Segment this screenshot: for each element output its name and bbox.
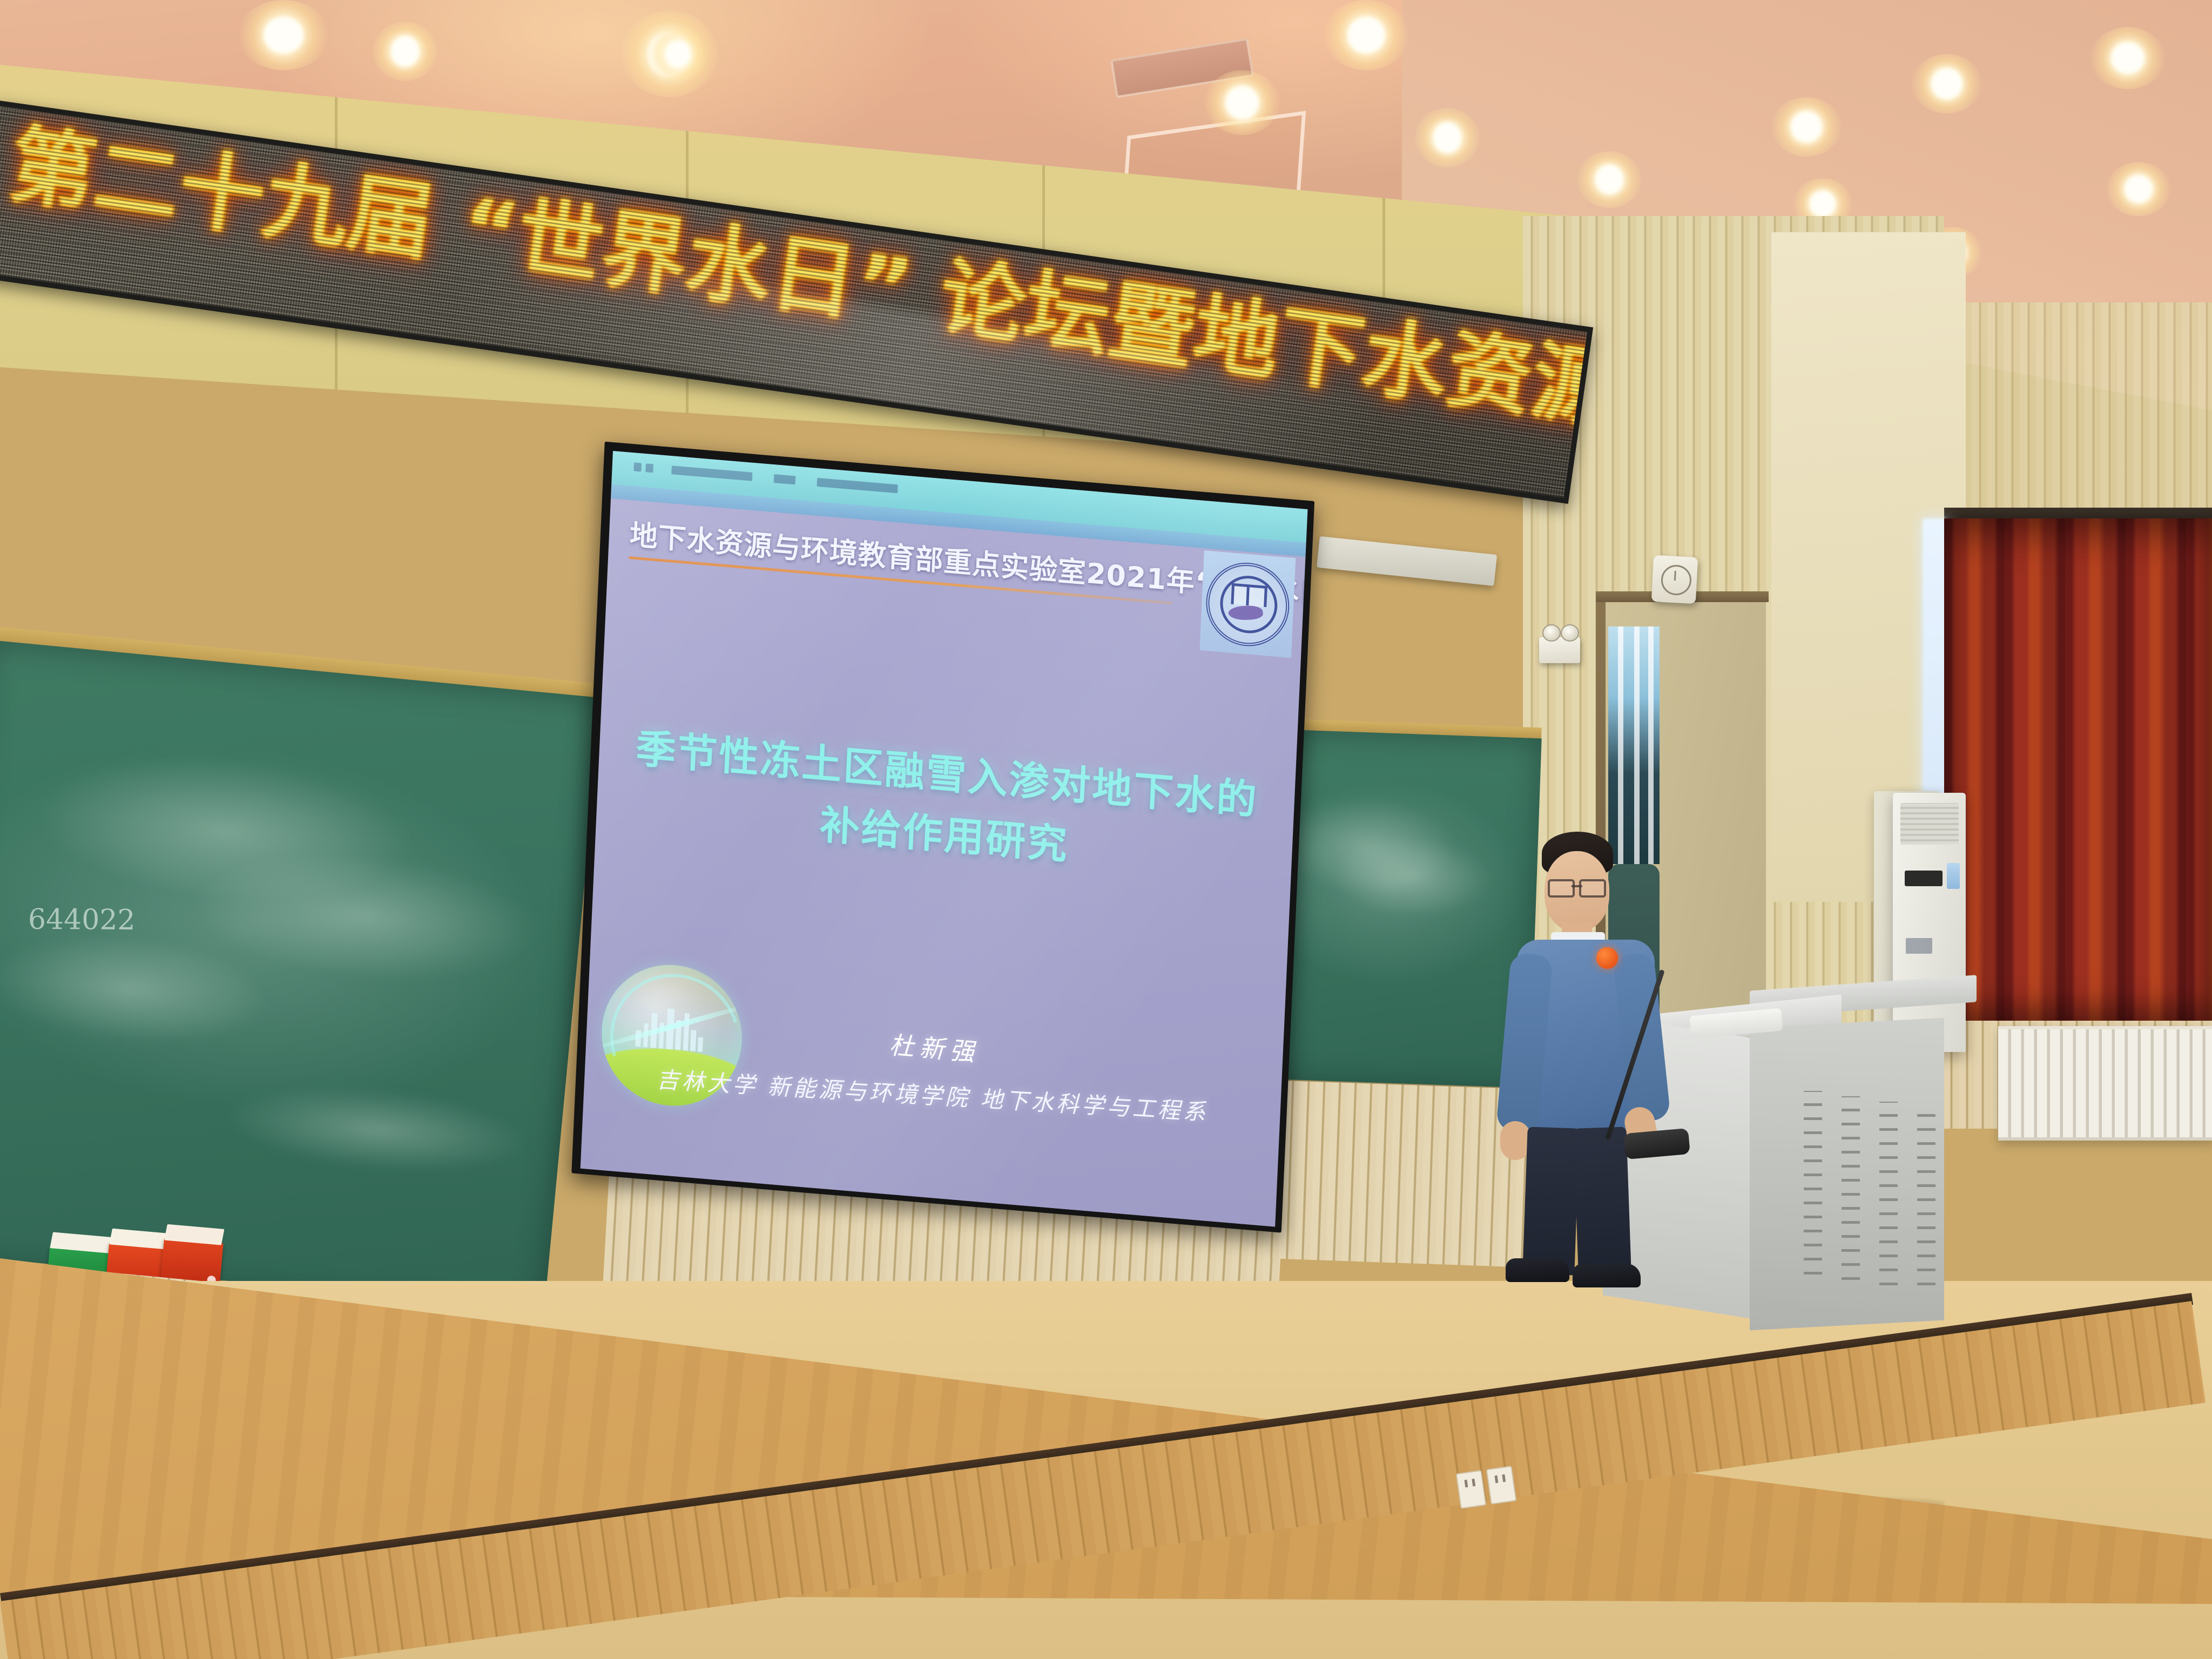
lecture-hall-photo: 第二十九届 “世界水日” 论坛暨地下水资源与环境教育部重点实验室学术研讨会 64… (0, 0, 2212, 1659)
jilin-university-logo (1199, 550, 1296, 658)
ac-grille (1900, 803, 1959, 845)
slide-surface: 地下水资源与环境教育部重点实验室2021年“世界水日”学术论坛 季节性冻土区融雪… (581, 451, 1308, 1227)
stage-curtain (1944, 518, 2212, 1021)
jilin-university-seal-icon (1204, 559, 1291, 649)
ceiling-downlight (1912, 54, 1982, 113)
lectern-vent-slots (1917, 1107, 1935, 1285)
chalkboard-left-note: 644022 (28, 903, 136, 936)
presenter-shoe-right (1573, 1264, 1641, 1287)
clock-face (1661, 564, 1692, 596)
wall-clock (1651, 555, 1698, 604)
emergency-light (1539, 637, 1580, 663)
ceiling-downlight (1415, 108, 1480, 167)
ceiling-downlight (648, 27, 707, 81)
microphone-windscreen-icon (1596, 947, 1618, 969)
door-window (1608, 626, 1660, 864)
presenter-leg-right (1573, 1127, 1631, 1273)
lectern-vent-slots (1804, 1091, 1822, 1274)
ceiling-downlight (1204, 70, 1280, 135)
projection-screen: 地下水资源与环境教育部重点实验室2021年“世界水日”学术论坛 季节性冻土区融雪… (581, 451, 1308, 1227)
ceiling-downlight (1577, 151, 1642, 208)
ceiling-downlight (1771, 97, 1842, 157)
ceiling-downlight (238, 0, 329, 70)
presenter-leg-left (1522, 1127, 1579, 1275)
ceiling-downlight (373, 22, 437, 81)
projector-housing (1317, 536, 1497, 586)
wall-outlet[interactable] (1486, 1466, 1517, 1505)
ac-logo (1906, 938, 1932, 954)
ac-badge (1947, 863, 1960, 889)
ceiling-downlight (1323, 0, 1410, 70)
presenter-legs (1491, 832, 1717, 1285)
radiator (1998, 1026, 2212, 1141)
ac-display (1905, 871, 1943, 886)
presenter (1491, 832, 1717, 1285)
emergency-lamp-left (1542, 624, 1561, 642)
chalkboard-left: 644022 (0, 640, 602, 1321)
lectern-vent-slots (1842, 1096, 1860, 1280)
slide-title: 季节性冻土区融雪入渗对地下水的 补给作用研究 (596, 715, 1296, 895)
presenter-shoe-left (1506, 1258, 1569, 1282)
ceiling-downlight (2090, 27, 2166, 89)
emergency-lamp-right (1561, 624, 1579, 642)
lectern-vent-slots (1879, 1102, 1898, 1285)
wall-outlet[interactable] (1456, 1470, 1487, 1509)
ceiling-downlight (2106, 162, 2171, 216)
